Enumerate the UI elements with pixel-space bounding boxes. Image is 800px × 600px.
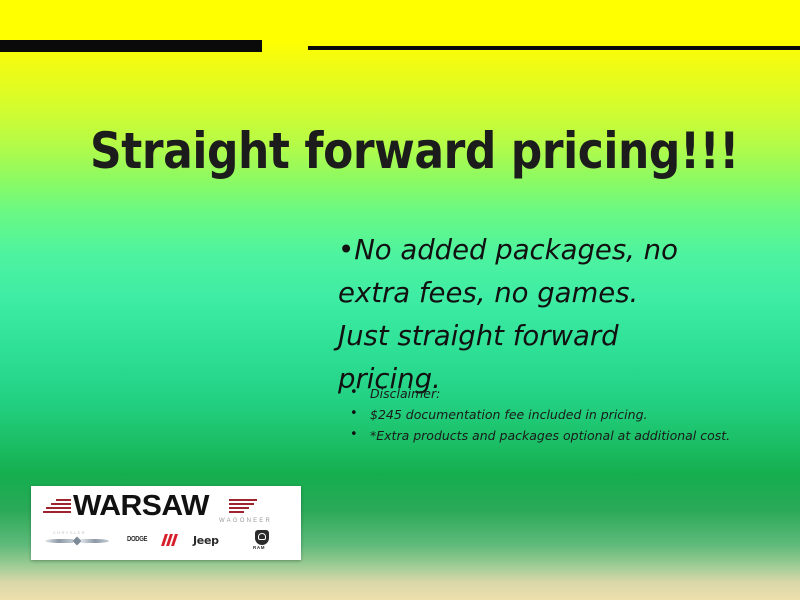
speed-lines-right-icon xyxy=(229,499,257,519)
ram-logo-icon: RAM xyxy=(251,530,277,552)
chrysler-wings-center-icon xyxy=(72,536,81,545)
chrysler-label: CHRYSLER xyxy=(53,530,86,535)
page-title: Straight forward pricing!!! xyxy=(90,122,739,180)
brand-logos-row: CHRYSLER DODGE Jeep RAM xyxy=(31,530,301,554)
dealer-logo-card: WARSAW WAGONEER CHRYSLER DODGE xyxy=(31,486,301,560)
header-rule-thin xyxy=(308,46,800,50)
list-item: Disclaimer: xyxy=(348,383,748,404)
ram-shield-icon xyxy=(255,530,269,545)
dealer-logo: WARSAW WAGONEER CHRYSLER DODGE xyxy=(31,486,301,560)
jeep-logo-icon: Jeep xyxy=(193,530,235,552)
list-item: *Extra products and packages optional at… xyxy=(348,425,748,446)
dodge-stripes-icon xyxy=(163,534,177,546)
chrysler-wings-icon xyxy=(45,537,109,545)
bullet-glyph-icon: • xyxy=(338,234,354,266)
list-item: $245 documentation fee included in prici… xyxy=(348,404,748,425)
speed-lines-left-icon xyxy=(43,499,71,519)
lead-bullet-paragraph: •No added packages, no extra fees, no ga… xyxy=(338,229,688,401)
chrysler-logo-icon: CHRYSLER xyxy=(45,530,109,552)
wagoneer-brand-label: WAGONEER xyxy=(219,518,272,524)
dealer-name-text: WARSAW xyxy=(73,490,209,523)
ram-label: RAM xyxy=(253,545,265,550)
presentation-slide: Straight forward pricing!!! •No added pa… xyxy=(0,0,800,600)
lead-bullet-text: No added packages, no extra fees, no gam… xyxy=(338,234,678,395)
jeep-label: Jeep xyxy=(193,534,219,547)
disclaimer-list: Disclaimer: $245 documentation fee inclu… xyxy=(348,383,748,446)
dodge-logo-icon: DODGE xyxy=(127,530,177,552)
header-rule-thick xyxy=(0,40,262,52)
dodge-label: DODGE xyxy=(127,536,147,543)
